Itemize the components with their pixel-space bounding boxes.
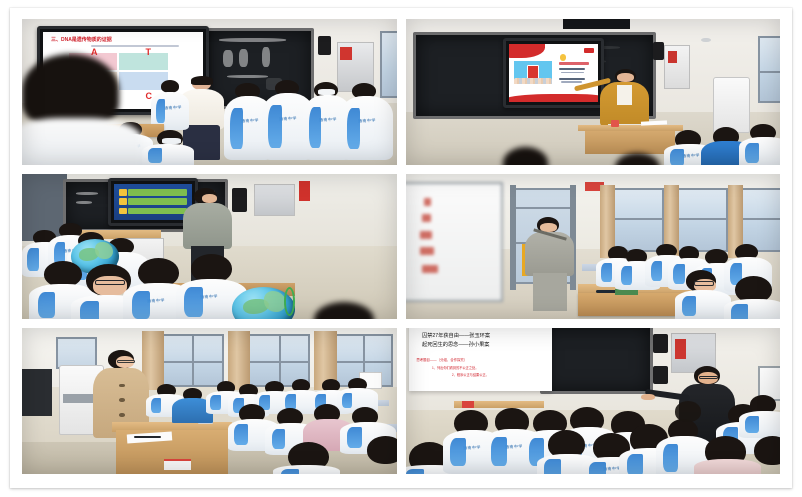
student-body: 通南中学 — [340, 96, 392, 160]
slide-heading-line — [559, 62, 589, 65]
slide-row — [128, 208, 187, 214]
photo-cell-6[interactable]: 囚禁27年获自由——张玉环案 起死回生的思念——孙小果案 思考题目——（分组、合… — [406, 328, 781, 474]
slide-line-1: 囚禁27年获自由——张玉环案 — [422, 332, 490, 339]
student-head — [754, 436, 780, 465]
teacher-hand — [641, 394, 654, 400]
slide-sub-item: 1、列出你们看到的不公正之处。 — [432, 365, 478, 370]
photo-cell-1[interactable]: 三、DNA是遗传物质的证据 A T G — [22, 19, 397, 165]
slide-bottom-banner — [509, 94, 598, 102]
slide-row-marker — [119, 189, 127, 195]
slide-row-marker — [119, 198, 127, 204]
base-letter-t: T — [146, 47, 152, 57]
slide-sub-item: 2、程序公正与结果公正。 — [452, 372, 489, 377]
slide-row — [128, 189, 187, 195]
teacher-hair — [191, 76, 213, 85]
student-body — [273, 465, 340, 474]
uniform-badge-text: 通南中学 — [241, 118, 259, 125]
photo-5-scene — [22, 328, 397, 474]
slide-book-icon — [527, 65, 539, 79]
screen-surface — [114, 184, 192, 220]
teacher-trousers — [533, 273, 567, 311]
wall-speaker — [318, 36, 331, 55]
photo-4-scene — [406, 174, 781, 320]
window — [739, 188, 780, 252]
photo-cell-2[interactable]: 通南中学 — [406, 19, 781, 165]
podium-top — [578, 125, 683, 131]
coat-buttons — [119, 413, 124, 417]
wall-poster — [299, 181, 310, 201]
slide-row-marker — [119, 208, 127, 214]
collage-card: 三、DNA是遗传物质的证据 A T G — [10, 8, 792, 488]
teacher-face — [202, 194, 217, 203]
glasses-icon — [95, 280, 125, 285]
whiteboard-writing — [420, 247, 434, 255]
uniform-badge-text: 通南中学 — [358, 118, 376, 125]
student-body — [724, 299, 780, 319]
wall-cabinet — [254, 184, 295, 216]
water-bottle — [611, 120, 618, 127]
uniform-badge-text: 通南中学 — [279, 116, 297, 123]
ceiling-panel — [563, 19, 630, 29]
page-root: 三、DNA是遗传物质的证据 A T G — [0, 0, 802, 497]
uniform-badge-text: 通南中学 — [164, 104, 182, 111]
slide-top-banner — [509, 44, 545, 58]
fire-extinguisher-box — [668, 51, 677, 63]
uniform-badge-text: 通南中学 — [319, 117, 337, 124]
slide-crowd — [514, 78, 551, 85]
wall-notice — [462, 401, 475, 408]
projection-screen: 囚禁27年获自由——张玉环案 起死回生的思念——孙小果案 思考题目——（分组、合… — [409, 328, 551, 391]
wall-speaker — [653, 366, 668, 383]
uniform-badge-text: 通南中学 — [147, 297, 165, 304]
door-frame — [510, 185, 516, 290]
slide-corner-tag — [584, 48, 595, 53]
slide-row — [128, 198, 187, 204]
slide-blue-background — [114, 184, 192, 220]
slide-legal-cases: 囚禁27年获自由——张玉环案 起死回生的思念——孙小果案 思考题目——（分组、合… — [409, 328, 551, 391]
student-body — [142, 144, 194, 164]
photo-1-scene: 三、DNA是遗传物质的证据 A T G — [22, 19, 397, 165]
student-body-pink — [694, 459, 761, 474]
podium — [585, 128, 675, 154]
slide-sun-icon — [560, 54, 566, 60]
glasses-icon — [694, 281, 715, 285]
whiteboard-writing — [422, 265, 438, 273]
slide-text-line — [559, 78, 586, 80]
interactive-screen — [503, 38, 604, 108]
wall-speaker — [653, 334, 668, 353]
student-face-mask — [318, 89, 335, 95]
student-body — [675, 290, 731, 319]
window — [161, 334, 225, 386]
student-body — [739, 411, 780, 437]
photo-6-scene: 囚禁27年获自由——张玉环案 起死回生的思念——孙小果案 思考题目——（分组、合… — [406, 328, 781, 474]
whiteboard-writing — [420, 231, 432, 239]
fire-extinguisher-box — [340, 47, 351, 60]
student-body — [739, 137, 780, 165]
teacher-body — [183, 203, 232, 250]
slide-title: 三、DNA是遗传物质的证据 — [51, 36, 112, 43]
slide-red — [509, 44, 598, 102]
uniform-badge-text: 通南中学 — [463, 445, 481, 452]
window-right — [758, 36, 780, 103]
air-conditioner — [713, 77, 750, 132]
student-head — [44, 261, 81, 287]
screen-surface — [509, 44, 598, 102]
curtain — [228, 331, 250, 389]
photo-cell-4[interactable] — [406, 174, 781, 320]
window — [611, 188, 663, 252]
whiteboard-writing — [424, 198, 431, 206]
blackboard-edge — [22, 369, 52, 416]
teacher-shirt — [617, 85, 632, 105]
blackboard — [540, 328, 652, 394]
slide-text-line — [561, 81, 582, 83]
window-right — [380, 31, 397, 98]
base-letter-a: A — [91, 47, 98, 57]
wall-speaker — [653, 42, 664, 59]
student-head — [675, 401, 701, 421]
slide-text-line — [559, 68, 586, 70]
teacher-face — [617, 73, 634, 82]
foreground-student-head — [22, 54, 119, 127]
slide-body-note: 思考题目——（分组、合作探究） — [416, 357, 467, 362]
slide-line-2: 起死回生的思念——孙小果案 — [422, 341, 489, 348]
wall-speaker — [232, 188, 247, 211]
photo-2-scene: 通南中学 — [406, 19, 781, 165]
window — [675, 188, 727, 252]
uniform-badge-text: 通南中学 — [200, 294, 218, 301]
whiteboard-writing — [422, 214, 431, 222]
glasses-icon — [117, 360, 134, 364]
glasses-icon — [699, 376, 718, 380]
slide-text-line — [561, 72, 584, 74]
photo-grid: 三、DNA是遗传物质的证据 A T G — [22, 19, 780, 474]
tissue-box — [164, 459, 190, 469]
photo-cell-5[interactable] — [22, 328, 397, 474]
foreground-student-shoulders — [22, 118, 142, 165]
uniform-badge-text: 通南中学 — [682, 153, 700, 160]
whiteboard — [406, 182, 503, 301]
coat-buttons — [119, 398, 124, 402]
uniform-badge-text: 通南中学 — [504, 444, 522, 451]
teacher-body — [525, 232, 574, 276]
student-face — [93, 276, 127, 296]
fire-extinguisher-box — [675, 339, 686, 359]
student-head — [367, 436, 397, 464]
photo-3-scene: 通南中学 通南中学 — [22, 174, 397, 320]
photo-cell-3[interactable]: 通南中学 通南中学 — [22, 174, 397, 320]
